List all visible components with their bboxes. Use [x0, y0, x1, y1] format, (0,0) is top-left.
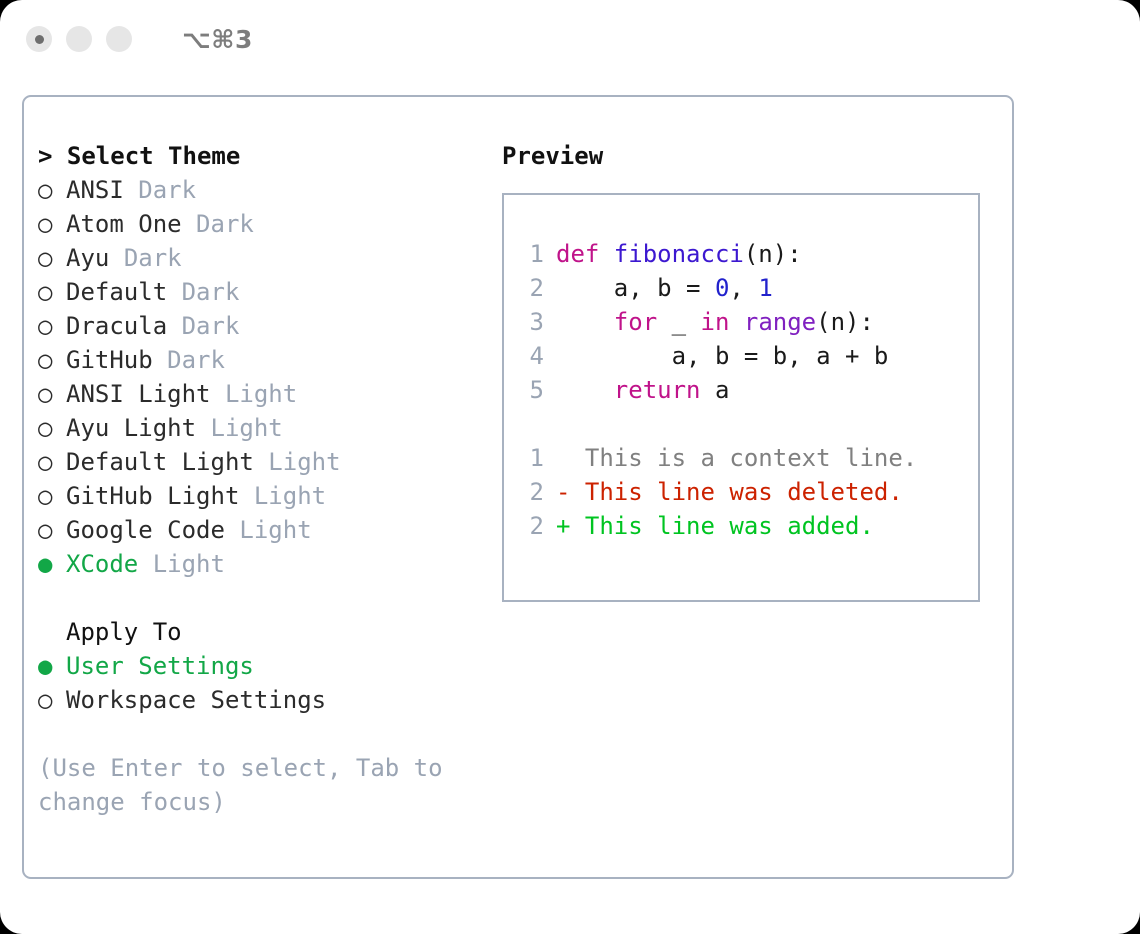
- code-token-pln: ,: [729, 274, 758, 302]
- code-token-pln: a, b =: [556, 274, 715, 302]
- code-line-number: 1: [518, 237, 544, 271]
- theme-category-label: Light: [211, 414, 283, 442]
- apply-to-option-label: Workspace Settings: [66, 686, 326, 714]
- radio-unselected-icon: ○: [38, 445, 66, 479]
- code-token-pln: a: [701, 376, 730, 404]
- theme-category-label: Light: [268, 448, 340, 476]
- theme-category-label: Dark: [124, 244, 182, 272]
- radio-unselected-icon: ○: [38, 513, 66, 547]
- apply-to-list[interactable]: ●User Settings○Workspace Settings: [38, 649, 478, 717]
- radio-selected-icon: ●: [38, 547, 66, 581]
- diff-sign: -: [556, 478, 570, 506]
- code-line: 3 for _ in range(n):: [504, 305, 978, 339]
- radio-unselected-icon: ○: [38, 241, 66, 275]
- theme-label-gap: [225, 516, 239, 544]
- code-line: 5 return a: [504, 373, 978, 407]
- theme-option-label: XCode: [66, 550, 138, 578]
- theme-label-gap: [254, 448, 268, 476]
- theme-category-label: Dark: [167, 346, 225, 374]
- theme-category-label: Light: [225, 380, 297, 408]
- theme-category-label: Dark: [196, 210, 254, 238]
- theme-option-github[interactable]: ○GitHub Dark: [38, 343, 478, 377]
- radio-selected-icon: ●: [38, 649, 66, 683]
- theme-category-label: Dark: [138, 176, 196, 204]
- apply-to-option-user-settings[interactable]: ●User Settings: [38, 649, 478, 683]
- diff-line: 1 This is a context line.: [504, 441, 978, 475]
- theme-list[interactable]: ○ANSI Dark○Atom One Dark○Ayu Dark○Defaul…: [38, 173, 478, 581]
- radio-unselected-icon: ○: [38, 411, 66, 445]
- theme-category-label: Light: [153, 550, 225, 578]
- theme-label-gap: [138, 550, 152, 578]
- window-dot-2-icon[interactable]: [66, 26, 92, 52]
- code-line-number: 4: [518, 339, 544, 373]
- window-dot-3-icon[interactable]: [106, 26, 132, 52]
- theme-category-label: Dark: [182, 278, 240, 306]
- theme-category-label: Light: [254, 482, 326, 510]
- diff-line: 2+ This line was added.: [504, 509, 978, 543]
- apply-to-option-label: User Settings: [66, 652, 254, 680]
- theme-option-label: GitHub Light: [66, 482, 239, 510]
- radio-unselected-icon: ○: [38, 173, 66, 207]
- theme-label-gap: [153, 346, 167, 374]
- diff-sample: 1 This is a context line.2- This line wa…: [504, 441, 978, 543]
- theme-option-label: Ayu Light: [66, 414, 196, 442]
- theme-label-gap: [167, 312, 181, 340]
- theme-option-ayu-light[interactable]: ○Ayu Light Light: [38, 411, 478, 445]
- theme-option-label: Atom One: [66, 210, 182, 238]
- diff-text: This line was deleted.: [570, 478, 902, 506]
- code-token-pln: [729, 308, 743, 336]
- theme-category-label: Dark: [182, 312, 240, 340]
- code-token-bi: range: [744, 308, 816, 336]
- theme-option-google-code[interactable]: ○Google Code Light: [38, 513, 478, 547]
- diff-line: 2- This line was deleted.: [504, 475, 978, 509]
- theme-option-label: Dracula: [66, 312, 167, 340]
- keyboard-shortcut-label: ⌥⌘3: [182, 25, 253, 54]
- code-line-number: 5: [518, 373, 544, 407]
- diff-text: This is a context line.: [570, 444, 917, 472]
- theme-option-xcode[interactable]: ●XCode Light: [38, 547, 478, 581]
- theme-option-label: Google Code: [66, 516, 225, 544]
- code-token-pln: [556, 376, 614, 404]
- theme-label-gap: [239, 482, 253, 510]
- radio-unselected-icon: ○: [38, 479, 66, 513]
- theme-option-default-light[interactable]: ○Default Light Light: [38, 445, 478, 479]
- code-token-kw: def: [556, 240, 614, 268]
- list-spacer: [38, 581, 478, 615]
- preview-column: Preview 1def fibonacci(n):2 a, b = 0, 13…: [502, 139, 1002, 602]
- diff-sign: [556, 444, 570, 472]
- title-bar: ⌥⌘3: [0, 0, 1140, 78]
- apply-to-heading: Apply To: [38, 615, 478, 649]
- radio-unselected-icon: ○: [38, 309, 66, 343]
- diff-line-number: 2: [518, 475, 544, 509]
- code-token-num: 0: [715, 274, 729, 302]
- code-line: 1def fibonacci(n):: [504, 237, 978, 271]
- code-token-kw: in: [701, 308, 730, 336]
- diff-sign: +: [556, 512, 570, 540]
- code-token-kw: return: [614, 376, 701, 404]
- theme-option-ansi-light[interactable]: ○ANSI Light Light: [38, 377, 478, 411]
- apply-to-option-workspace-settings[interactable]: ○Workspace Settings: [38, 683, 478, 717]
- theme-label-gap: [196, 414, 210, 442]
- radio-unselected-icon: ○: [38, 377, 66, 411]
- code-line: 2 a, b = 0, 1: [504, 271, 978, 305]
- theme-option-label: ANSI Light: [66, 380, 211, 408]
- code-token-pln: a, b = b, a + b: [556, 342, 888, 370]
- theme-label-gap: [211, 380, 225, 408]
- code-token-pln: _: [657, 308, 700, 336]
- theme-option-ayu[interactable]: ○Ayu Dark: [38, 241, 478, 275]
- theme-option-label: Ayu: [66, 244, 109, 272]
- code-line: 4 a, b = b, a + b: [504, 339, 978, 373]
- code-line-number: 2: [518, 271, 544, 305]
- radio-unselected-icon: ○: [38, 207, 66, 241]
- select-theme-heading: > Select Theme: [38, 139, 478, 173]
- theme-selector-panel: > Select Theme ○ANSI Dark○Atom One Dark○…: [22, 95, 1014, 879]
- radio-unselected-icon: ○: [38, 275, 66, 309]
- theme-label-gap: [109, 244, 123, 272]
- theme-option-label: ANSI: [66, 176, 124, 204]
- diff-line-number: 1: [518, 441, 544, 475]
- code-diff-gap: [504, 407, 978, 441]
- theme-option-atom-one[interactable]: ○Atom One Dark: [38, 207, 478, 241]
- theme-selection-column: > Select Theme ○ANSI Dark○Atom One Dark○…: [38, 139, 478, 819]
- radio-unselected-icon: ○: [38, 683, 66, 717]
- preview-code-box: 1def fibonacci(n):2 a, b = 0, 13 for _ i…: [502, 193, 980, 602]
- theme-label-gap: [167, 278, 181, 306]
- theme-option-ansi[interactable]: ○ANSI Dark: [38, 173, 478, 207]
- code-token-kw: for: [614, 308, 657, 336]
- theme-option-label: GitHub: [66, 346, 153, 374]
- theme-option-default[interactable]: ○Default Dark: [38, 275, 478, 309]
- code-token-num: 1: [758, 274, 772, 302]
- theme-label-gap: [182, 210, 196, 238]
- code-token-pln: [556, 308, 614, 336]
- theme-option-dracula[interactable]: ○Dracula Dark: [38, 309, 478, 343]
- window-dot-active-icon[interactable]: [26, 26, 52, 52]
- diff-text: This line was added.: [570, 512, 873, 540]
- code-token-fn: fibonacci: [614, 240, 744, 268]
- keyboard-hint-text: (Use Enter to select, Tab to change focu…: [38, 751, 448, 819]
- theme-category-label: Light: [239, 516, 311, 544]
- theme-option-label: Default Light: [66, 448, 254, 476]
- theme-option-github-light[interactable]: ○GitHub Light Light: [38, 479, 478, 513]
- theme-label-gap: [124, 176, 138, 204]
- theme-option-label: Default: [66, 278, 167, 306]
- code-sample: 1def fibonacci(n):2 a, b = 0, 13 for _ i…: [504, 237, 978, 407]
- app-window: ⌥⌘3 > Select Theme ○ANSI Dark○Atom One D…: [0, 0, 1140, 934]
- code-line-number: 3: [518, 305, 544, 339]
- code-token-pln: (n):: [816, 308, 874, 336]
- code-token-pln: (n):: [744, 240, 802, 268]
- diff-line-number: 2: [518, 509, 544, 543]
- preview-heading: Preview: [502, 139, 1002, 173]
- hint-spacer: [38, 717, 478, 751]
- radio-unselected-icon: ○: [38, 343, 66, 377]
